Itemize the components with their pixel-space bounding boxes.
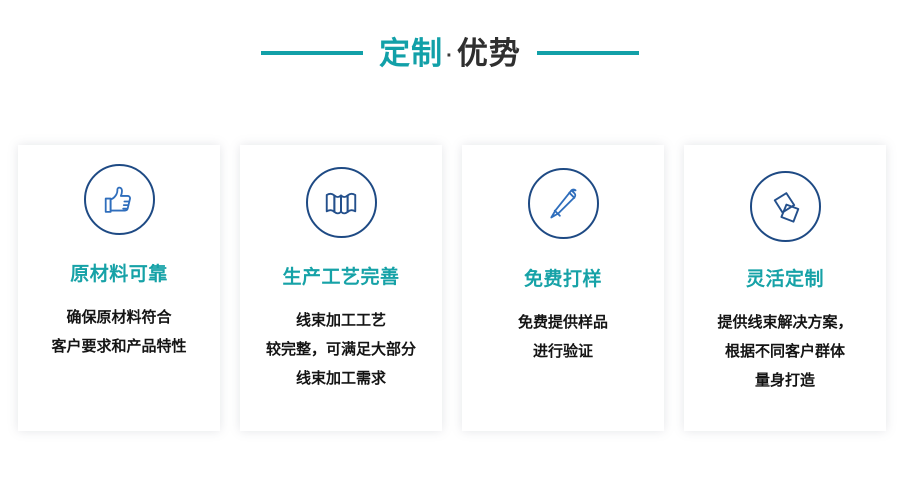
card-title: 原材料可靠: [70, 265, 168, 286]
icon-circle: [84, 164, 155, 235]
icon-circle: [306, 167, 377, 238]
card-body-line: 客户要求和产品特性: [24, 332, 214, 361]
page-title-dark: 优势: [457, 38, 521, 69]
advantage-card[interactable]: 原材料可靠 确保原材料符合 客户要求和产品特性: [18, 145, 220, 431]
card-body-line: 根据不同客户群体: [690, 337, 880, 366]
pencil-icon: [544, 185, 582, 223]
folded-map-icon: [322, 184, 360, 222]
card-title: 免费打样: [524, 270, 602, 291]
card-body-line: 免费提供样品: [468, 308, 658, 337]
card-body-line: 提供线束解决方案，: [690, 308, 880, 337]
card-body-line: 量身打造: [690, 366, 880, 395]
card-body: 线束加工工艺 较完整，可满足大部分 线束加工需求: [240, 306, 442, 393]
advantage-card[interactable]: 生产工艺完善 线束加工工艺 较完整，可满足大部分 线束加工需求: [240, 145, 442, 431]
card-body: 免费提供样品 进行验证: [462, 308, 664, 366]
advantage-card[interactable]: 灵活定制 提供线束解决方案， 根据不同客户群体 量身打造: [684, 145, 886, 431]
card-body-line: 进行验证: [468, 337, 658, 366]
card-body-line: 线束加工工艺: [246, 306, 436, 335]
icon-circle: [750, 171, 821, 242]
advantage-card-row: 原材料可靠 确保原材料符合 客户要求和产品特性 生产工艺完善 线束加工工艺 较完…: [18, 145, 886, 431]
card-title: 生产工艺完善: [282, 268, 399, 289]
section-header: 定制 · 优势: [0, 22, 900, 84]
page-title-accent: 定制: [379, 38, 443, 69]
card-body-line: 线束加工需求: [246, 364, 436, 393]
header-rule-right: [537, 51, 639, 55]
header-rule-left: [261, 51, 363, 55]
thumbs-up-icon: [100, 181, 138, 219]
icon-circle: [528, 168, 599, 239]
card-title: 灵活定制: [746, 270, 824, 291]
advantage-card[interactable]: 免费打样 免费提供样品 进行验证: [462, 145, 664, 431]
card-body: 确保原材料符合 客户要求和产品特性: [18, 303, 220, 361]
card-body-line: 确保原材料符合: [24, 303, 214, 332]
card-body-line: 较完整，可满足大部分: [246, 335, 436, 364]
stacked-sheets-icon: [766, 188, 804, 226]
card-body: 提供线束解决方案， 根据不同客户群体 量身打造: [684, 308, 886, 395]
page-title-separator: ·: [443, 46, 457, 66]
page-title: 定制 · 优势: [379, 38, 521, 69]
